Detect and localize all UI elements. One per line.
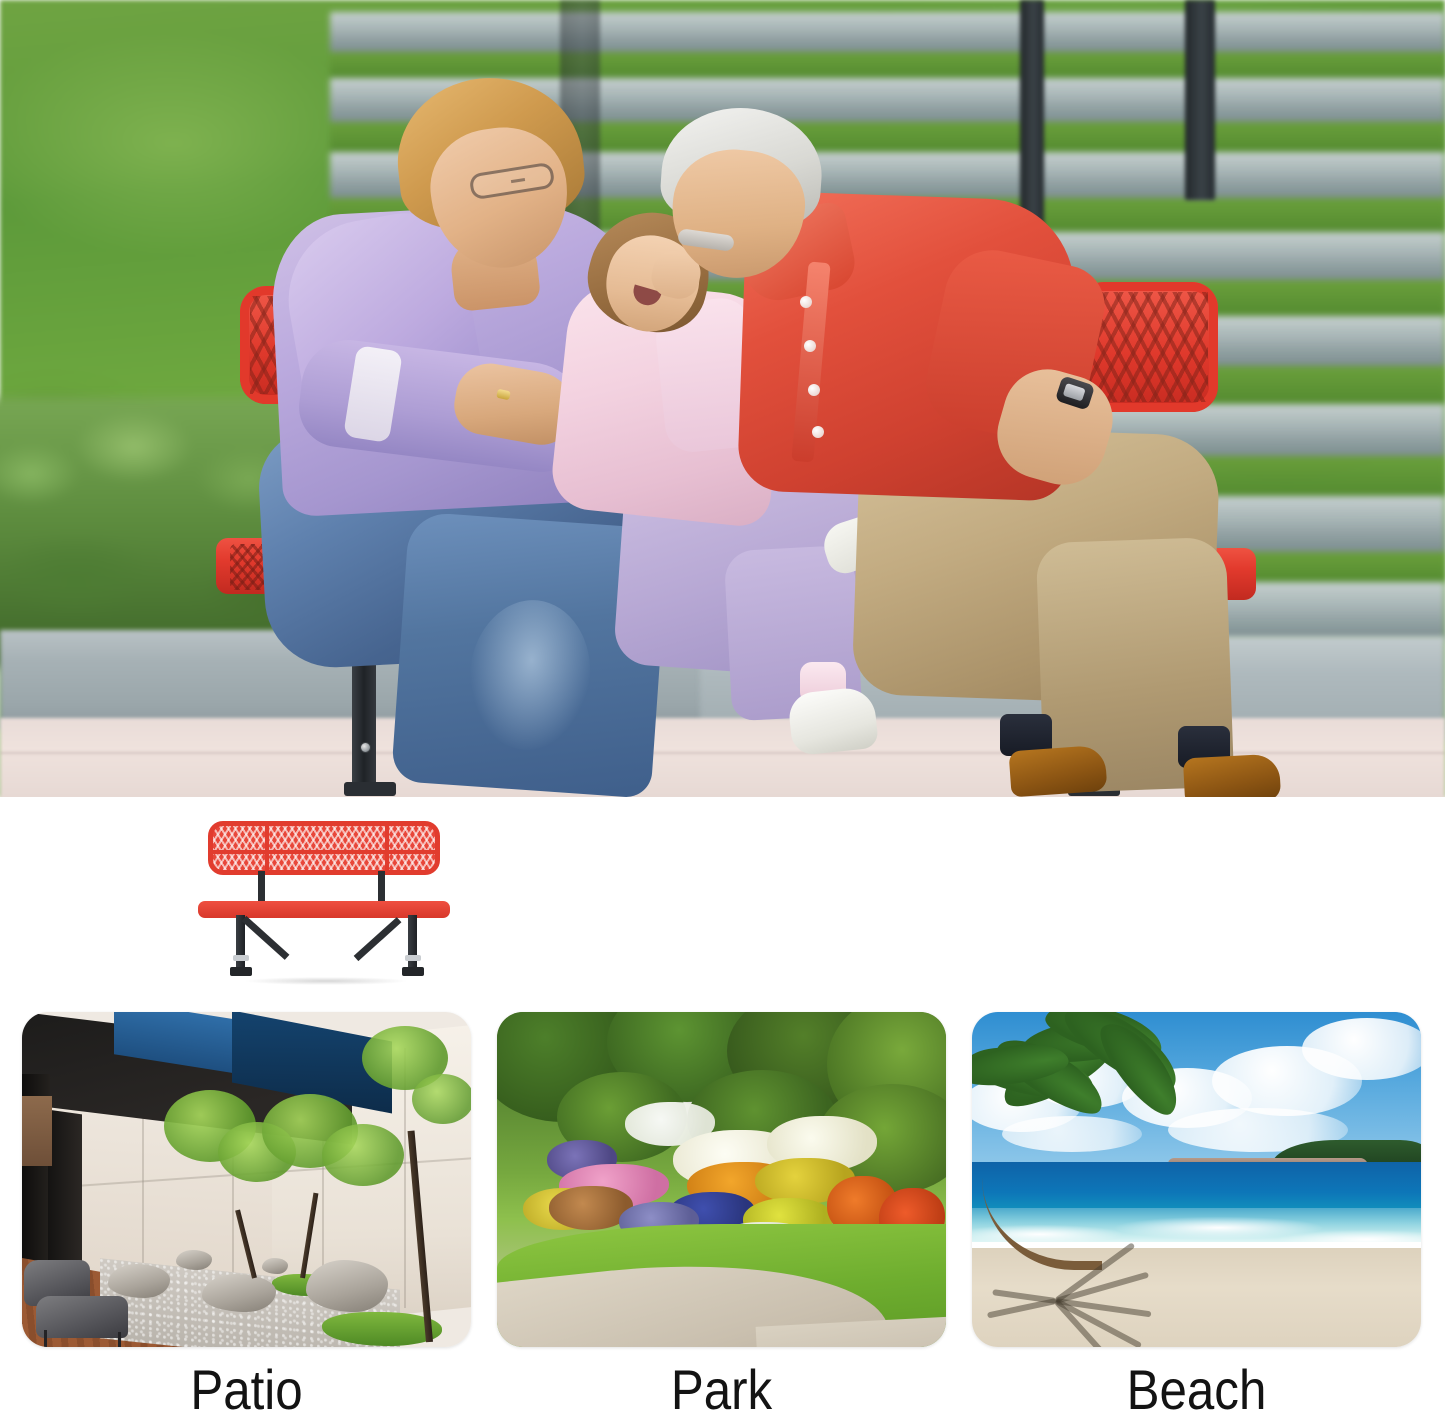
- child-shoe-left: [787, 686, 879, 757]
- headline-section: WIDE APPLICATION: [0, 797, 1445, 1012]
- beach-cloud: [1002, 1116, 1142, 1152]
- beach-cloud: [1302, 1018, 1421, 1080]
- lamp-post-right: [1185, 0, 1215, 200]
- product-marketing-page: WIDE APPLICATION: [0, 0, 1445, 1415]
- shirt-button: [800, 296, 812, 308]
- product-back-post-right: [378, 871, 385, 905]
- application-label-patio: Patio: [49, 1360, 444, 1415]
- patio-foliage: [412, 1074, 471, 1124]
- product-foot-plate-right: [405, 955, 421, 961]
- application-image-beach[interactable]: [972, 1012, 1421, 1347]
- product-mesh-pattern: [213, 826, 435, 870]
- grandfather-shoe-left: [1009, 745, 1108, 797]
- shirt-button: [804, 340, 816, 352]
- application-image-park[interactable]: [497, 1012, 946, 1347]
- patio-foliage: [322, 1124, 404, 1186]
- beach-scene: [972, 1012, 1421, 1347]
- patio-rock: [176, 1250, 212, 1270]
- product-brace-left: [242, 916, 290, 960]
- patio-brick-edge: [22, 1096, 52, 1166]
- palm-shadow: [986, 1278, 1166, 1324]
- shirt-button: [812, 426, 824, 438]
- patio-lounge-chair: [36, 1296, 128, 1338]
- bench-bolt-left: [360, 742, 371, 753]
- product-foot-left: [230, 967, 252, 976]
- product-backrest-rail: [213, 850, 435, 854]
- application-label-park: Park: [524, 1360, 919, 1415]
- patio-rock: [202, 1274, 276, 1312]
- application-gallery: Patio: [0, 1012, 1445, 1415]
- product-bench-illustration: [196, 815, 452, 987]
- patio-chair-leg: [118, 1332, 121, 1347]
- patio-chair-leg: [44, 1330, 47, 1347]
- grandfather-shoe-right: [1183, 754, 1281, 797]
- product-back-post-left: [258, 871, 265, 905]
- patio-scene: [22, 1012, 471, 1347]
- bench-mesh-pattern: [1088, 292, 1208, 402]
- patio-rock: [108, 1264, 170, 1298]
- product-shadow: [246, 977, 406, 985]
- park-scene: [497, 1012, 946, 1347]
- bench-foot-left: [344, 782, 396, 796]
- product-backrest-strut: [265, 826, 269, 870]
- application-image-patio[interactable]: [22, 1012, 471, 1347]
- application-label-beach: Beach: [999, 1360, 1394, 1415]
- hero-lifestyle-photo: [0, 0, 1445, 797]
- product-backrest-strut: [385, 826, 389, 870]
- patio-rock: [306, 1260, 388, 1312]
- shirt-button: [808, 384, 820, 396]
- patio-rock: [262, 1258, 288, 1274]
- product-foot-plate-left: [233, 955, 249, 961]
- product-backrest: [208, 821, 440, 875]
- product-foot-right: [402, 967, 424, 976]
- product-brace-right: [354, 917, 402, 961]
